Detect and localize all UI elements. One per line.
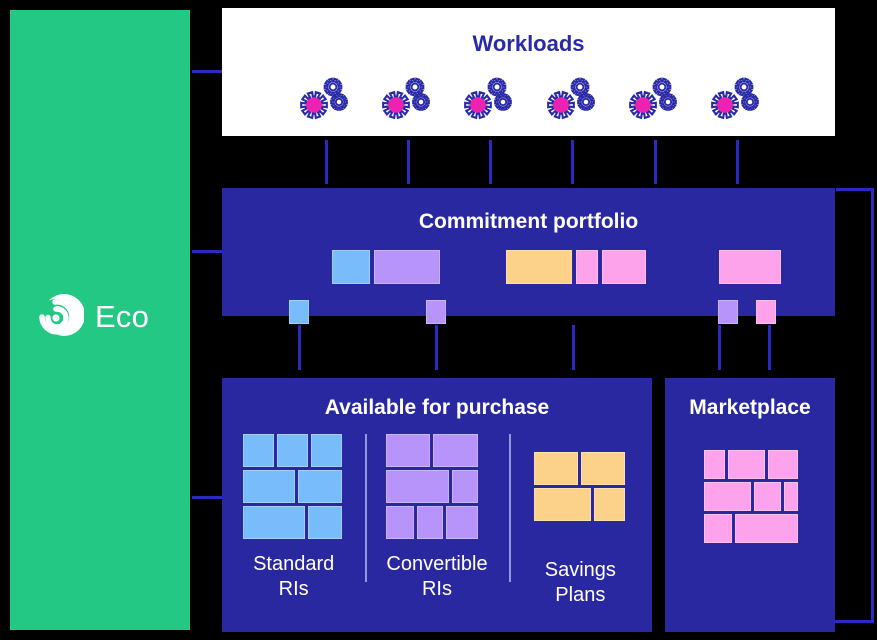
portfolio-bar-convertible-ri[interactable] [374, 250, 440, 284]
connector-workload-4-to-portfolio [571, 140, 574, 184]
purchase-column-convertible-ris[interactable]: ConvertibleRIs [365, 430, 508, 630]
brick-standard-ris-3[interactable] [311, 434, 342, 467]
connector-workload-6-to-portfolio [736, 140, 739, 184]
brick-standard-ris-2[interactable] [277, 434, 308, 467]
workload-gear-4-icon [542, 74, 598, 126]
brick-standard-ris-6[interactable] [243, 506, 305, 539]
label-line-2: RIs [365, 577, 508, 602]
eco-spiral-logo-icon [34, 291, 84, 341]
connector-portfolio-to-purchase-3 [572, 325, 575, 370]
workload-gear-2-icon [377, 74, 433, 126]
brick-standard-ris-4[interactable] [243, 470, 295, 503]
brick-savings-plans-3[interactable] [534, 488, 591, 521]
commitment-portfolio-title: Commitment portfolio [222, 210, 835, 234]
connector-brand-purchase [192, 496, 224, 499]
connector-portfolio-to-purchase-4 [718, 325, 721, 370]
purchase-column-standard-ris[interactable]: StandardRIs [222, 430, 365, 630]
connector-portfolio-to-purchase-1 [298, 325, 301, 370]
brick-convertible-ris-1[interactable] [386, 434, 430, 467]
purchase-column-savings-plans[interactable]: SavingsPlans [509, 430, 652, 630]
portfolio-bar-marketplace-3[interactable] [719, 250, 781, 284]
workload-gear-5-icon [624, 74, 680, 126]
workloads-panel[interactable]: Workloads [222, 8, 835, 136]
label-line-1: Savings [509, 558, 652, 583]
purchase-column-label-standard-ris: StandardRIs [222, 552, 365, 602]
purchase-column-label-savings-plans: SavingsPlans [509, 558, 652, 608]
connector-marketplace-loop-top [836, 188, 874, 191]
brick-group-convertible-ris [365, 430, 508, 542]
brick-marketplace-6[interactable] [784, 482, 798, 511]
brick-marketplace-5[interactable] [754, 482, 781, 511]
brick-marketplace-1[interactable] [704, 450, 725, 479]
portfolio-bar-marketplace-2[interactable] [602, 250, 646, 284]
portfolio-bar-savings-plan[interactable] [506, 250, 572, 284]
brick-marketplace-4[interactable] [704, 482, 751, 511]
connector-portfolio-to-purchase-2 [435, 325, 438, 370]
brick-convertible-ris-5[interactable] [386, 506, 414, 539]
marketplace-title: Marketplace [665, 396, 835, 420]
portfolio-bar-standard-ri[interactable] [332, 250, 370, 284]
brick-convertible-ris-2[interactable] [433, 434, 478, 467]
connector-workload-2-to-portfolio [407, 140, 410, 184]
label-line-2: Plans [509, 583, 652, 608]
brand-lockup: Eco [34, 291, 149, 341]
brand-name: Eco [95, 301, 149, 332]
portfolio-chip-convertible-ri[interactable] [426, 300, 446, 324]
brick-standard-ris-7[interactable] [308, 506, 342, 539]
connector-brand-portfolio [192, 250, 224, 253]
workload-gear-3-icon [459, 74, 515, 126]
brick-marketplace-7[interactable] [704, 514, 732, 543]
available-for-purchase-title: Available for purchase [222, 396, 652, 420]
brick-marketplace-2[interactable] [728, 450, 765, 479]
label-line-1: Standard [222, 552, 365, 577]
diagram-canvas: Eco Workloads Commitment portfolio Avail… [0, 0, 877, 640]
portfolio-chip-marketplace[interactable] [756, 300, 776, 324]
purchase-columns: StandardRIsConvertibleRIsSavingsPlans [222, 430, 652, 630]
brick-marketplace-3[interactable] [768, 450, 798, 479]
connector-workload-1-to-portfolio [325, 140, 328, 184]
workload-gear-row [222, 74, 835, 126]
marketplace-panel[interactable]: Marketplace [665, 378, 835, 632]
portfolio-bar-marketplace-1[interactable] [576, 250, 598, 284]
connector-workload-5-to-portfolio [654, 140, 657, 184]
brick-group-standard-ris [222, 430, 365, 542]
label-line-1: Convertible [365, 552, 508, 577]
brick-savings-plans-4[interactable] [594, 488, 625, 521]
workload-gear-6-icon [706, 74, 762, 126]
connector-workload-3-to-portfolio [489, 140, 492, 184]
label-line-2: RIs [222, 577, 365, 602]
workload-gear-1-icon [295, 74, 351, 126]
marketplace-brick-group [704, 450, 804, 554]
connector-brand-workloads [192, 70, 224, 73]
brick-convertible-ris-4[interactable] [452, 470, 478, 503]
brick-marketplace-8[interactable] [735, 514, 798, 543]
brick-savings-plans-1[interactable] [534, 452, 578, 485]
brick-convertible-ris-7[interactable] [446, 506, 478, 539]
brick-savings-plans-2[interactable] [581, 452, 625, 485]
portfolio-chip-convertible-2[interactable] [718, 300, 738, 324]
brick-standard-ris-5[interactable] [298, 470, 342, 503]
portfolio-chip-standard-ri[interactable] [289, 300, 309, 324]
brick-convertible-ris-3[interactable] [386, 470, 449, 503]
brick-group-savings-plans [509, 430, 652, 542]
connector-portfolio-to-purchase-5 [768, 325, 771, 370]
brand-panel: Eco [10, 10, 190, 630]
brick-standard-ris-1[interactable] [243, 434, 274, 467]
available-for-purchase-panel[interactable]: Available for purchase StandardRIsConver… [222, 378, 652, 632]
workloads-title: Workloads [222, 31, 835, 57]
connector-marketplace-loop-right [871, 188, 874, 623]
purchase-column-label-convertible-ris: ConvertibleRIs [365, 552, 508, 602]
brick-convertible-ris-6[interactable] [417, 506, 443, 539]
